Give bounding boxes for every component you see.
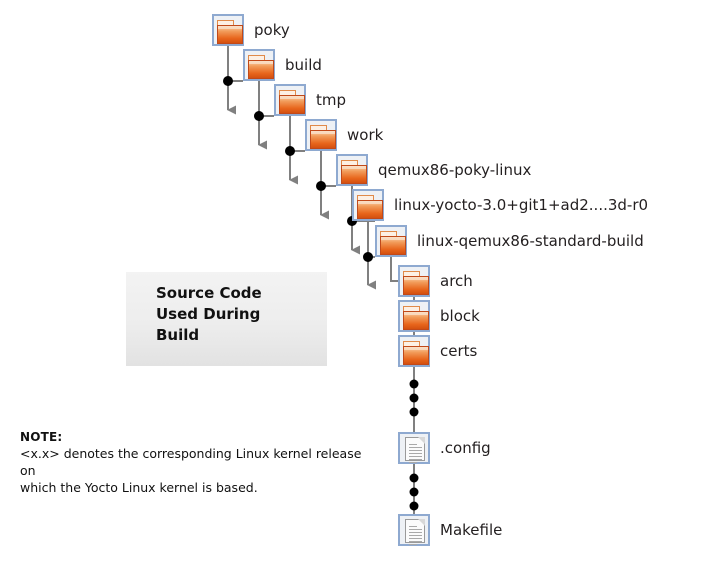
folder-icon [375,225,407,257]
tree-node-label: work [347,119,383,151]
note-heading: NOTE: [20,430,380,444]
document-icon [398,514,430,546]
diagram-canvas: poky build tmp work qemu [0,0,705,581]
tree-node-label: linux-yocto-3.0+git1+ad2....3d-r0 [394,189,648,221]
folder-icon [336,154,368,186]
folder-icon [243,49,275,81]
source-code-callout: Source Code Used During Build [126,272,327,366]
tree-node-label: build [285,49,322,81]
tree-node-label: tmp [316,84,346,116]
tree-node-label: qemux86-poky-linux [378,154,531,186]
folder-icon [352,189,384,221]
tree-node-label: poky [254,14,290,46]
tree-node-label: Makefile [440,514,502,546]
tree-node-label: arch [440,265,473,297]
folder-icon [398,300,430,332]
document-icon [398,432,430,464]
tree-node-label: linux-qemux86-standard-build [417,225,644,257]
callout-line-3: Build [156,325,262,346]
folder-icon [398,265,430,297]
folder-icon [398,335,430,367]
callout-text: Source Code Used During Build [156,283,262,346]
callout-line-2: Used During [156,304,262,325]
tree-node-label: block [440,300,480,332]
note-block: NOTE: <x.x> denotes the corresponding Li… [20,430,380,496]
note-line-2: which the Yocto Linux kernel is based. [20,479,380,496]
folder-icon [305,119,337,151]
folder-icon [274,84,306,116]
tree-node-label: certs [440,335,477,367]
note-line-1: <x.x> denotes the corresponding Linux ke… [20,445,380,479]
folder-icon [212,14,244,46]
callout-line-1: Source Code [156,283,262,304]
tree-node-label: .config [440,432,491,464]
